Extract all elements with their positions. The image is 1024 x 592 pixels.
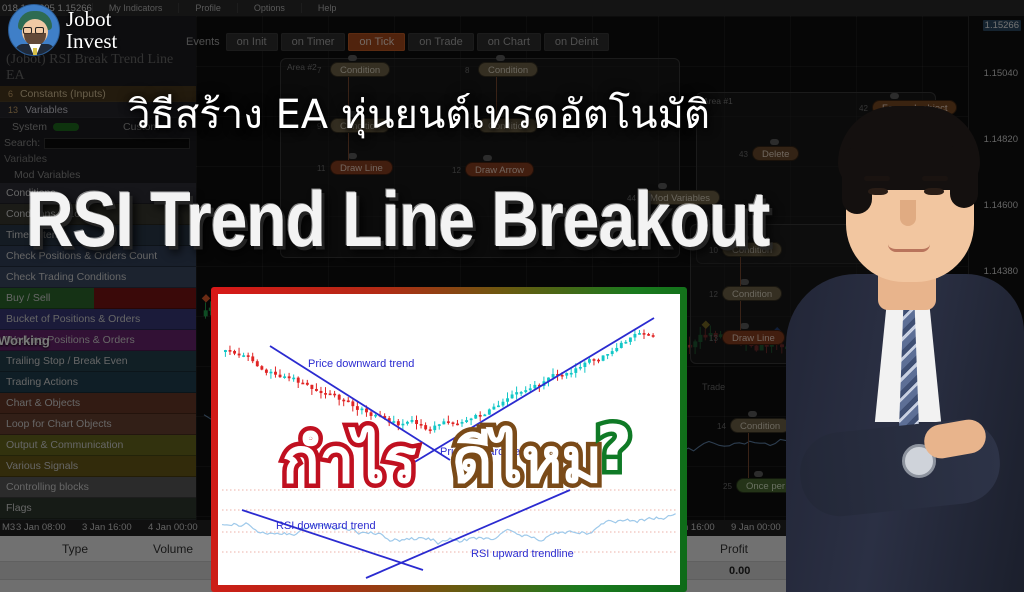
node-condition[interactable]: 7Condition	[330, 62, 390, 77]
node-connector	[740, 301, 741, 330]
sidebar-item-controlling-blocks[interactable]: Controlling blocks	[0, 477, 196, 498]
node-connector-dot	[748, 411, 757, 417]
price-tick: 1.15040	[984, 68, 1018, 79]
thai-overlay-part-3: ?	[596, 412, 631, 485]
toggle-system-label: System	[12, 121, 47, 133]
event-tab-on-init[interactable]: on Init	[226, 33, 278, 51]
column-profit: Profit	[720, 542, 748, 556]
time-label-3: n 16:00	[683, 522, 715, 533]
variables-count: 13	[8, 105, 18, 115]
sidebar-item-output-communication[interactable]: Output & Communication	[0, 435, 196, 456]
node-condition[interactable]: 8Condition	[478, 62, 538, 77]
node-connector-dot	[740, 323, 749, 329]
trade-group-label: Trade	[702, 382, 725, 392]
label-rsi-downward-trend: RSI downward trend	[276, 520, 376, 532]
status-badge: Working	[0, 330, 50, 351]
node-connector-dot	[754, 471, 763, 477]
event-tab-on-trade[interactable]: on Trade	[408, 33, 473, 51]
channel-logo: Jobot Invest	[8, 4, 117, 56]
node-index: 43	[739, 147, 748, 162]
node-connector-dot	[348, 55, 357, 61]
time-label-0: 3 Jan 08:00	[16, 522, 66, 533]
sidebar-item-various-signals[interactable]: Various Signals	[0, 456, 196, 477]
menu-help[interactable]: Help	[301, 3, 353, 13]
event-tab-on-tick[interactable]: on Tick	[348, 33, 405, 51]
label-rsi-upward-trendline: RSI upward trendline	[471, 548, 574, 560]
node-draw-line[interactable]: 11Draw Line	[330, 160, 393, 175]
node-connector-dot	[740, 279, 749, 285]
event-tab-on-timer[interactable]: on Timer	[281, 33, 346, 51]
search-label: Search:	[4, 137, 40, 149]
time-label-1: 3 Jan 16:00	[82, 522, 132, 533]
current-price: 1.15266	[983, 20, 1021, 31]
time-label-2: 4 Jan 00:00	[148, 522, 198, 533]
logo-line-1: Jobot	[66, 8, 117, 30]
sidebar-item-trailing-stop-break-even[interactable]: Trailing Stop / Break Even	[0, 351, 196, 372]
events-toolbar[interactable]: Events on Initon Timeron Tickon Tradeon …	[186, 36, 612, 48]
sidebar-item-bucket-of-positions-orders[interactable]: Bucket of Positions & Orders	[0, 309, 196, 330]
events-label: Events	[186, 36, 220, 48]
avatar-icon	[8, 4, 60, 56]
area-2-tag: Area #2	[287, 62, 317, 72]
thai-overlay-part-1: กำไร	[282, 412, 416, 510]
chart-period: M3	[2, 522, 15, 533]
menu-options[interactable]: Options	[237, 3, 301, 13]
node-index: 12	[709, 287, 718, 302]
variables-label: Variables	[25, 104, 68, 116]
logo-text: Jobot Invest	[66, 8, 117, 52]
sidebar-item-loop-for-chart-objects[interactable]: Loop for Chart Objects	[0, 414, 196, 435]
node-connector-dot	[348, 153, 357, 159]
profit-value: 0.00	[729, 565, 750, 577]
sidebar-item-buy-sell[interactable]: Buy / Sell	[0, 288, 196, 309]
thai-overlay-part-2: ดีไหม	[452, 412, 601, 510]
node-index: 13	[709, 331, 718, 346]
tree-header-variables: Variables	[0, 151, 196, 167]
screenshot-root: Area #1 Area #2 7Condition8Condition9Con…	[0, 0, 1024, 592]
constants-count: 6	[8, 89, 13, 99]
sidebar-item-flags[interactable]: Flags	[0, 498, 196, 519]
presenter-photo	[774, 96, 1024, 592]
logo-line-2: Invest	[66, 30, 117, 52]
label-price-downward-trend: Price downward trend	[308, 358, 414, 370]
node-index: 25	[723, 479, 732, 494]
sidebar-item-check-trading-conditions[interactable]: Check Trading Conditions	[0, 267, 196, 288]
sidebar-item-chart-objects[interactable]: Chart & Objects	[0, 393, 196, 414]
sidebar-item-working-positions-orders[interactable]: Working Positions & OrdersWorking	[0, 330, 196, 351]
toggle-switch[interactable]	[53, 123, 79, 131]
event-tab-on-chart[interactable]: on Chart	[477, 33, 541, 51]
column-type: Type	[62, 542, 88, 556]
node-index: 14	[717, 419, 726, 434]
node-connector-dot	[483, 155, 492, 161]
menu-bar[interactable]: 018 1.15295 1.15266 My Indicators Profil…	[0, 0, 1024, 16]
node-index: 8	[465, 63, 469, 78]
node-connector-dot	[496, 55, 505, 61]
event-tab-on-deinit[interactable]: on Deinit	[544, 33, 609, 51]
sidebar-item-trading-actions[interactable]: Trading Actions	[0, 372, 196, 393]
column-volume: Volume	[153, 542, 193, 556]
menu-profile[interactable]: Profile	[178, 3, 237, 13]
node-index: 7	[317, 63, 321, 78]
node-connector	[748, 433, 749, 478]
constants-label: Constants (Inputs)	[20, 88, 106, 100]
